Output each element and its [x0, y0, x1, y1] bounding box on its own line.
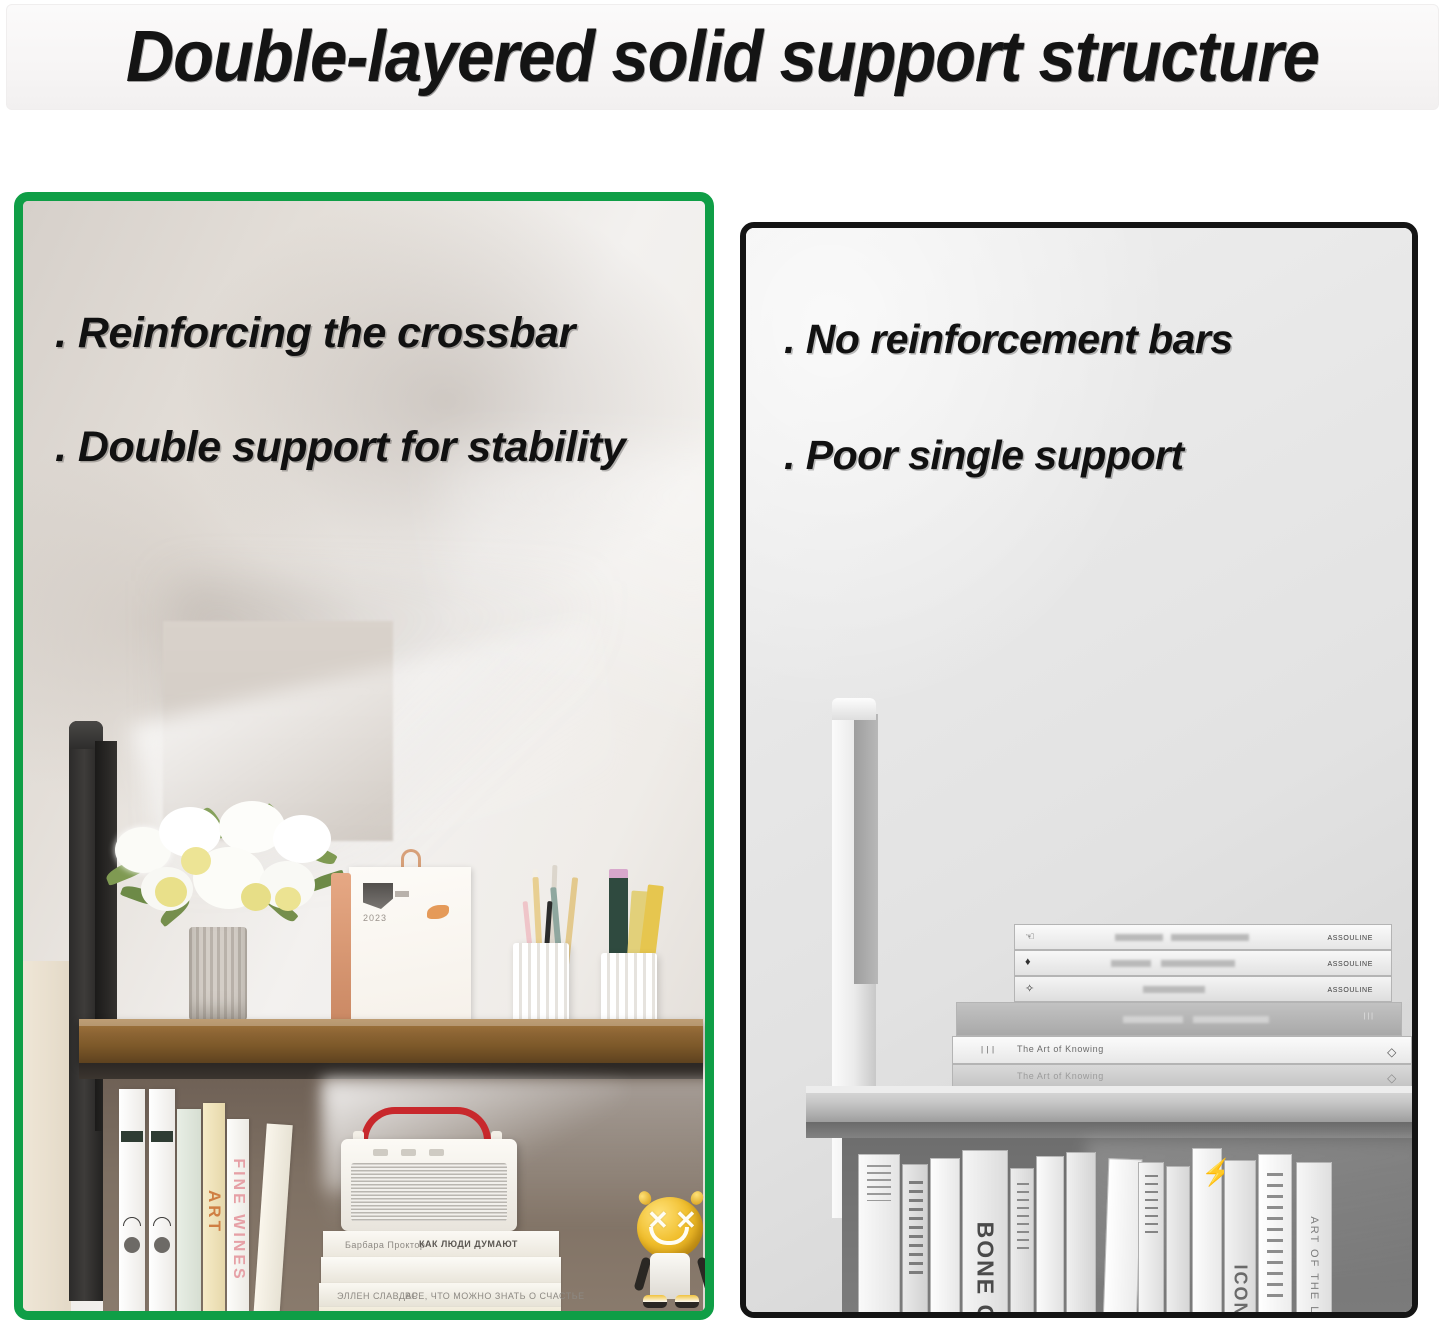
support-post-notch: [832, 698, 876, 720]
gray-shelf-underside: [806, 1122, 1412, 1138]
gray-book-3: [930, 1158, 960, 1312]
gray-book-4: [1010, 1168, 1034, 1312]
figurine-body: [650, 1253, 690, 1299]
binder-2: [149, 1089, 175, 1311]
stacked-book-3: ЭЛЛЕН СЛАВДАР ВСЕ, ЧТО МОЖНО ЗНАТЬ О СЧА…: [319, 1283, 561, 1307]
bad-panel-scene: ☜ ASSOULINE ♦ ASSOULINE ✧ ASSOULINE |||: [746, 228, 1412, 1312]
book-art: ART: [203, 1103, 225, 1311]
gray-book-lightning: ⚡ ⚲: [1192, 1148, 1222, 1312]
gray-book-asterisk: ✱: [1258, 1154, 1292, 1312]
radio-knob-1: [373, 1149, 388, 1156]
calendar-page: 2023: [349, 867, 471, 1023]
left-wall-surface: [23, 961, 71, 1311]
good-panel-scene: 2023: [23, 201, 705, 1311]
gray-stacked-book-1: ☜ ASSOULINE: [1014, 924, 1392, 950]
good-product-panel: 2023: [14, 192, 714, 1320]
gray-book-10: ART OF THE LAND: [1296, 1162, 1332, 1312]
bad-callout-1: . No reinforcement bars: [784, 316, 1233, 363]
gray-book-8: [1138, 1162, 1164, 1312]
gray-book-1: [858, 1154, 900, 1312]
stacked-book-2: [321, 1257, 561, 1283]
gray-stacked-book-3: ✧ ASSOULINE: [1014, 976, 1392, 1002]
radio-knob-3: [429, 1149, 444, 1156]
gray-book-9: [1166, 1166, 1190, 1312]
pen-holder-right: [601, 953, 657, 1029]
page-title-bar: Double-layered solid support structure: [6, 4, 1439, 110]
flower-vase: [189, 927, 247, 1023]
gray-stacked-book-2: ♦ ASSOULINE: [1014, 950, 1392, 976]
gray-book-5: [1036, 1156, 1064, 1312]
gray-stacked-book-5: | | | The Art of Knowing ◇: [952, 1036, 1412, 1064]
good-callout-2: . Double support for stability: [55, 423, 625, 472]
stacked-book-4: МАРК ЛЕВИН СИЛЬНЕЕ СТРАХА: [319, 1307, 561, 1311]
binder-1: [119, 1089, 145, 1311]
shelf-top-underside: [79, 1063, 703, 1079]
book-fine-wines: FINE WINES: [227, 1119, 249, 1311]
gray-shelf-top-edge: [806, 1086, 1412, 1093]
gray-stacked-book-6: The Art of Knowing ◇: [952, 1064, 1412, 1088]
radio-knob-2: [401, 1149, 416, 1156]
book-green: [177, 1109, 201, 1311]
radio-handle: [361, 1107, 491, 1141]
comparison-infographic: Double-layered solid support structure: [0, 0, 1445, 1326]
bad-callout-2: . Poor single support: [784, 432, 1184, 479]
pen-holder-left: [513, 943, 569, 1029]
calendar-frame: [331, 873, 351, 1031]
gray-book-6: [1066, 1152, 1096, 1312]
support-post-shadow: [854, 714, 878, 984]
figurine-shoe-right: [675, 1295, 699, 1308]
gray-book-2: [902, 1164, 928, 1312]
good-callout-1: . Reinforcing the crossbar: [55, 309, 575, 358]
gray-book-bone-gap: BONE GAP: [962, 1150, 1008, 1312]
page-title: Double-layered solid support structure: [126, 21, 1319, 93]
gray-book-iconic: ICONIC: [1224, 1160, 1256, 1312]
gray-stacked-book-4: |||: [956, 1002, 1402, 1036]
bad-product-panel: ☜ ASSOULINE ♦ ASSOULINE ✧ ASSOULINE |||: [740, 222, 1418, 1318]
shelf-top-edge: [79, 1019, 703, 1026]
radio-speaker-grill: [351, 1163, 507, 1221]
figurine-shoe-left: [643, 1295, 667, 1308]
stacked-book-1: Барбара Проктор КАК ЛЮДИ ДУМАЮТ: [323, 1231, 559, 1257]
